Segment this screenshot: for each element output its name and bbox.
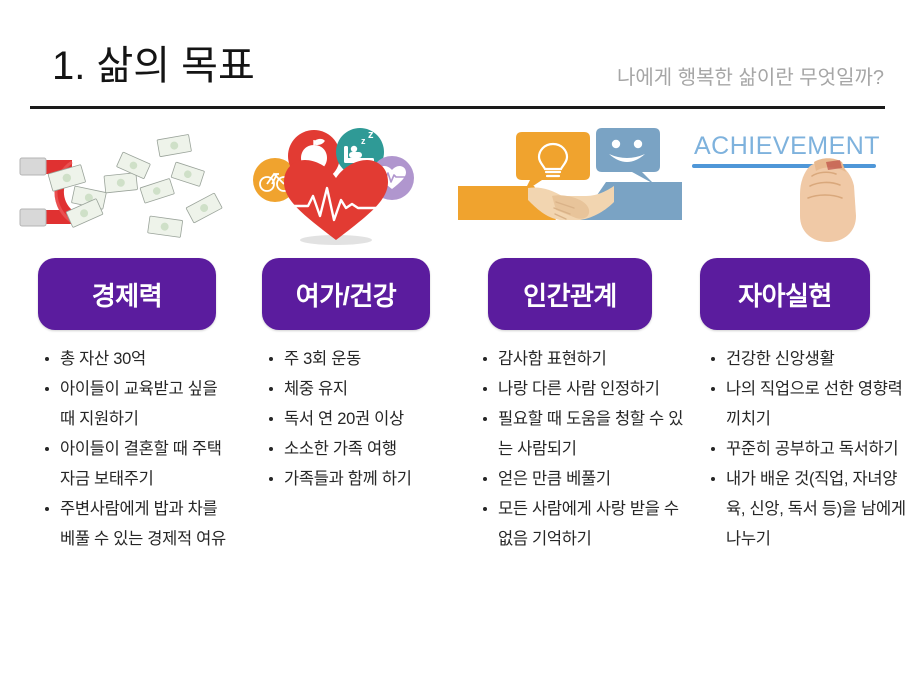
bullet-text: 주 3회 운동 [284,350,361,368]
content-columns: 경제력 총 자산 30억 아이들이 교육받고 싶을 때 지원하기 아이들이 결혼… [0,116,912,684]
bullet-text: 필요할 때 도움을 청할 수 있는 사람되기 [498,410,683,458]
bullet-text: 나랑 다른 사람 인정하기 [498,380,660,398]
svg-text:z: z [361,136,366,146]
magnet-money-icon [0,116,228,248]
bullet-text: 감사함 표현하기 [498,350,606,368]
list-item: 감사함 표현하기 [482,344,684,374]
bullet-text: 총 자산 30억 [60,350,146,368]
list-item: 내가 배운 것(직업, 자녀양육, 신앙, 독서 등)을 남에게 나누기 [710,464,912,554]
lightbulb-bubble [516,132,590,192]
list-item: 가족들과 함께 하기 [268,464,456,494]
achievement-word-text: ACHIEVEMENT [694,132,880,160]
slide-header: 1. 삶의 목표 나에게 행복한 삶이란 무엇일까? [0,0,912,112]
column-economic-power: 경제력 총 자산 30억 아이들이 교육받고 싶을 때 지원하기 아이들이 결혼… [0,116,228,684]
bullet-text: 꾸준히 공부하고 독서하기 [726,440,898,458]
bullet-text: 내가 배운 것(직업, 자녀양육, 신앙, 독서 등)을 남에게 나누기 [726,470,906,548]
list-item: 체중 유지 [268,374,456,404]
list-item: 아이들이 교육받고 싶을 때 지원하기 [44,374,228,434]
column-title-label: 인간관계 [523,276,617,313]
column-title-label: 경제력 [92,276,162,313]
list-item: 나랑 다른 사람 인정하기 [482,374,684,404]
bullet-text: 아이들이 교육받고 싶을 때 지원하기 [60,380,217,428]
bullet-list-self-realization: 건강한 신앙생활 나의 직업으로 선한 영향력 끼치기 꾸준히 공부하고 독서하… [684,344,912,554]
column-title-label: 여가/건강 [296,276,396,313]
list-item: 주 3회 운동 [268,344,456,374]
heart-ecg [284,160,388,245]
bullet-text: 건강한 신앙생활 [726,350,834,368]
svg-text:z: z [368,129,374,141]
handshake-icon [456,116,684,248]
bullet-text: 아이들이 결혼할 때 주택자금 보태주기 [60,440,222,488]
bullet-text: 가족들과 함께 하기 [284,470,412,488]
list-item: 나의 직업으로 선한 영향력 끼치기 [710,374,912,434]
column-title-pill-economic-power[interactable]: 경제력 [38,258,216,330]
list-item: 아이들이 결혼할 때 주택자금 보태주기 [44,434,228,494]
list-item: 필요할 때 도움을 청할 수 있는 사람되기 [482,404,684,464]
slide-canvas: 1. 삶의 목표 나에게 행복한 삶이란 무엇일까? [0,0,912,684]
bullet-text: 나의 직업으로 선한 영향력 끼치기 [726,380,903,428]
column-title-pill-relationships[interactable]: 인간관계 [488,258,652,330]
bullet-list-relationships: 감사함 표현하기 나랑 다른 사람 인정하기 필요할 때 도움을 청할 수 있는… [456,344,684,554]
list-item: 주변사람에게 밥과 차를 베풀 수 있는 경제적 여유 [44,494,228,554]
bullet-text: 얻은 만큼 베풀기 [498,470,611,488]
page-subtitle: 나에게 행복한 삶이란 무엇일까? [617,68,884,88]
list-item: 소소한 가족 여행 [268,434,456,464]
achievement-writing-icon: ACHIEVEMENT [684,116,912,248]
bullet-text: 주변사람에게 밥과 차를 베풀 수 있는 경제적 여유 [60,500,226,548]
list-item: 총 자산 30억 [44,344,228,374]
column-title-pill-self-realization[interactable]: 자아실현 [700,258,870,330]
health-icons-icon: z z [228,116,456,248]
header-divider [30,106,885,109]
list-item: 얻은 만큼 베풀기 [482,464,684,494]
list-item: 독서 연 20권 이상 [268,404,456,434]
bullet-text: 소소한 가족 여행 [284,440,397,458]
column-title-label: 자아실현 [738,276,832,313]
bullet-list-economic-power: 총 자산 30억 아이들이 교육받고 싶을 때 지원하기 아이들이 결혼할 때 … [0,344,228,554]
list-item: 건강한 신앙생활 [710,344,912,374]
column-leisure-health: z z [228,116,456,684]
page-title: 1. 삶의 목표 [52,46,255,86]
bullet-text: 모든 사람에게 사랑 받을 수 없음 기억하기 [498,500,679,548]
column-title-pill-leisure-health[interactable]: 여가/건강 [262,258,430,330]
list-item: 모든 사람에게 사랑 받을 수 없음 기억하기 [482,494,684,554]
hand-with-marker [800,158,856,242]
column-self-realization: ACHIEVEMENT [684,116,912,684]
bullet-text: 체중 유지 [284,380,348,398]
smiley-bubble [596,128,660,184]
bullet-list-leisure-health: 주 3회 운동 체중 유지 독서 연 20권 이상 소소한 가족 여행 가족들과… [228,344,456,494]
bullet-text: 독서 연 20권 이상 [284,410,404,428]
list-item: 꾸준히 공부하고 독서하기 [710,434,912,464]
column-relationships: 인간관계 감사함 표현하기 나랑 다른 사람 인정하기 필요할 때 도움을 청할… [456,116,684,684]
